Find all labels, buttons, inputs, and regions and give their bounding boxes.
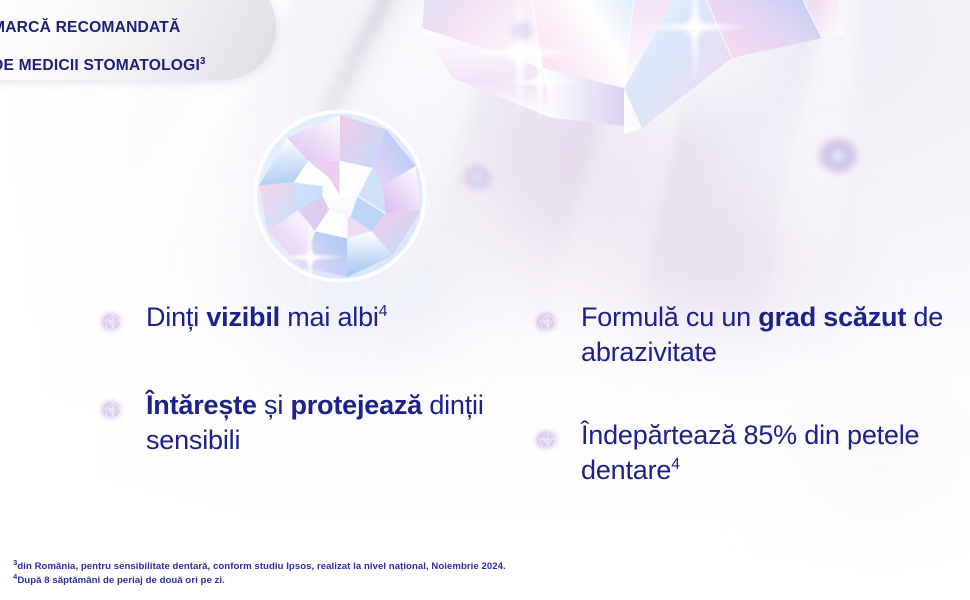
benefit-segment-bold: grad scăzut <box>758 302 906 332</box>
benefit-segment: Formulă cu un <box>581 302 758 332</box>
benefit-text: Formulă cu un grad scăzut de abrazivitat… <box>581 300 953 370</box>
diamond-gem-icon <box>533 310 563 340</box>
mini-gem-icon <box>508 18 542 52</box>
badge-line-1: MARCĂ RECOMANDATĂ <box>0 19 180 36</box>
benefit-segment: Dinți <box>146 302 206 332</box>
benefit-segment: mai albi <box>280 302 379 332</box>
benefits-column-left: Dinți vizibil mai albi4 Întărește și pro… <box>98 300 498 480</box>
recommendation-badge: MARCĂ RECOMANDATĂ DE MEDICII STOMATOLOGI… <box>0 0 276 80</box>
recommendation-badge-label: MARCĂ RECOMANDATĂ DE MEDICII STOMATOLOGI… <box>0 0 254 75</box>
benefit-item: Întărește și protejează dinții sensibili <box>98 388 498 458</box>
footnote-row: 4După 8 săptămâni de periaj de două ori … <box>13 574 506 588</box>
benefit-superscript: 4 <box>379 303 388 320</box>
benefit-segment: Îndepărtează 85% din petele dentare <box>581 420 919 485</box>
benefit-text: Întărește și protejează dinții sensibili <box>146 388 498 458</box>
footnote-text: După 8 săptămâni de periaj de două ori p… <box>17 575 225 586</box>
benefit-segment-bold: protejează <box>290 390 422 420</box>
footnote-text: din România, pentru sensibilitate dentar… <box>17 561 505 572</box>
mini-gem-icon <box>812 132 874 194</box>
benefit-item: Îndepărtează 85% din petele dentare4 <box>533 418 953 488</box>
benefit-item: Dinți vizibil mai albi4 <box>98 300 498 340</box>
badge-superscript: 3 <box>200 56 206 67</box>
benefit-segment-bold: vizibil <box>206 302 280 332</box>
benefit-text: Dinți vizibil mai albi4 <box>146 300 387 335</box>
benefit-item: Formulă cu un grad scăzut de abrazivitat… <box>533 300 953 370</box>
footnote-row: 3din România, pentru sensibilitate denta… <box>13 560 506 574</box>
benefit-segment-bold: Întărește <box>146 390 257 420</box>
benefit-superscript: 4 <box>671 456 680 473</box>
diamond-gem-icon <box>533 428 563 458</box>
mini-gem-icon <box>458 160 504 206</box>
benefit-segment: și <box>257 390 291 420</box>
benefit-text: Îndepărtează 85% din petele dentare4 <box>581 418 953 488</box>
footnotes: 3din România, pentru sensibilitate denta… <box>13 560 506 588</box>
benefits-column-right: Formulă cu un grad scăzut de abrazivitat… <box>533 300 953 510</box>
diamond-gem-icon <box>98 398 128 428</box>
badge-line-2: DE MEDICII STOMATOLOGI <box>0 57 200 74</box>
promo-banner: MARCĂ RECOMANDATĂ DE MEDICII STOMATOLOGI… <box>0 0 970 600</box>
diamond-gem-icon <box>98 310 128 340</box>
